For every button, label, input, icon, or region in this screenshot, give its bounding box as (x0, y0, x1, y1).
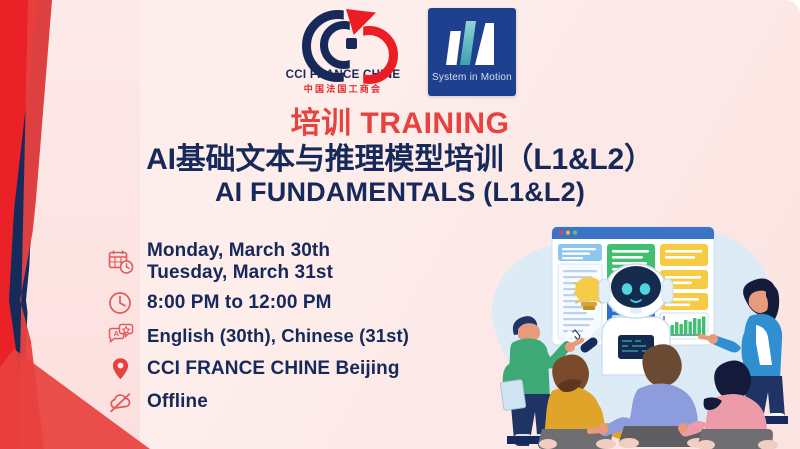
event-details-list: Monday, March 30th Tuesday, March 31st 8… (108, 240, 409, 422)
cci-logo-mark-icon (300, 8, 386, 68)
page-title-en: AI FUNDAMENTALS (L1&L2) (0, 177, 800, 208)
detail-date-line1: Monday, March 30th (147, 240, 333, 262)
title-block: 培训 TRAINING AI基础文本与推理模型培训（L1&L2） AI FUND… (0, 108, 800, 208)
detail-row-time: 8:00 PM to 12:00 PM (108, 290, 409, 316)
detail-format: Offline (147, 391, 208, 413)
detail-row-language: A English (30th), Chinese (31st) (108, 323, 409, 349)
detail-row-date: Monday, March 30th Tuesday, March 31st (108, 240, 409, 284)
system-in-motion-mark-icon (444, 21, 500, 65)
detail-time: 8:00 PM to 12:00 PM (147, 292, 332, 314)
system-in-motion-logo: System in Motion (428, 8, 516, 96)
poster-canvas: CCI FRANCE CHINE 中国法国工商会 System in Motio… (0, 0, 800, 449)
location-pin-icon (108, 356, 134, 382)
logo-row: CCI FRANCE CHINE 中国法国工商会 System in Motio… (0, 8, 800, 96)
detail-date-line2: Tuesday, March 31st (147, 262, 333, 284)
eyebrow-training: 培训 TRAINING (0, 108, 800, 140)
page-title-cn: AI基础文本与推理模型培训（L1&L2） (0, 142, 800, 178)
svg-text:A: A (114, 329, 120, 338)
detail-location: CCI FRANCE CHINE Beijing (147, 358, 400, 380)
language-translate-icon: A (108, 323, 134, 349)
detail-language: English (30th), Chinese (31st) (147, 325, 409, 346)
clock-icon (108, 290, 134, 316)
system-in-motion-label: System in Motion (432, 72, 512, 83)
ai-training-classroom-illustration (466, 213, 796, 449)
cloud-offline-icon (108, 389, 134, 415)
detail-row-location: CCI FRANCE CHINE Beijing (108, 356, 409, 382)
detail-row-format: Offline (108, 389, 409, 415)
cci-france-chine-logo: CCI FRANCE CHINE 中国法国工商会 (284, 8, 402, 95)
calendar-clock-icon (108, 249, 134, 275)
